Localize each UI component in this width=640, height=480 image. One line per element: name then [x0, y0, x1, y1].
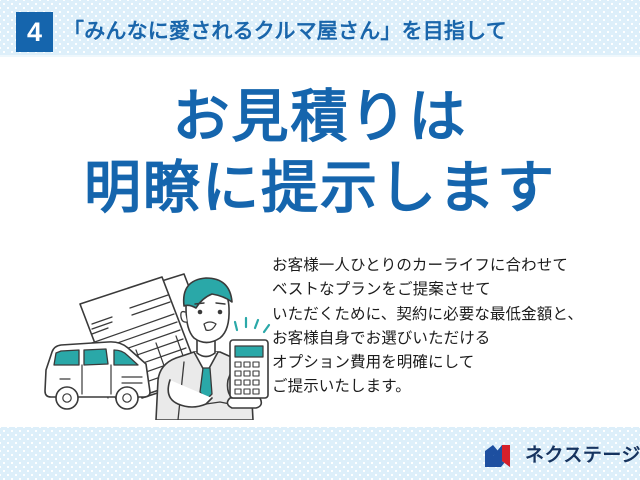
header-title: 「みんなに愛されるクルマ屋さん」を目指して — [63, 12, 507, 52]
body-copy-line-4: お客様自身でお選びいただける — [272, 327, 638, 351]
body-copy-line-3: いただくために、契約に必要な最低金額と、 — [272, 303, 638, 327]
calculator — [230, 340, 268, 398]
body-copy-line-1: お客様一人ひとりのカーライフに合わせて — [272, 254, 638, 278]
brand-logo: ネクステージ — [484, 443, 640, 469]
body-copy-line-2: ベストなプランをご提案させて — [272, 278, 638, 302]
body-copy-line-6: ご提示いたします。 — [272, 375, 638, 399]
illustration-svg — [34, 252, 272, 420]
headline: お見積りは 明瞭に提示します — [0, 82, 640, 224]
body-copy: お客様一人ひとりのカーライフに合わせて ベストなプランをご提案させて いただくた… — [272, 254, 638, 400]
quote-illustration — [34, 252, 272, 420]
promo-panel: 4 「みんなに愛されるクルマ屋さん」を目指して お見積りは 明瞭に提示します — [0, 0, 640, 480]
headline-line-1: お見積りは — [0, 82, 640, 152]
headline-line-2: 明瞭に提示します — [0, 152, 640, 224]
brand-wordmark: ネクステージ — [525, 444, 640, 468]
step-number-badge: 4 — [16, 12, 53, 52]
sparkle-marks — [235, 318, 269, 332]
nexstage-n-logo-icon — [484, 444, 518, 468]
body-copy-line-5: オプション費用を明確にして — [272, 351, 638, 375]
